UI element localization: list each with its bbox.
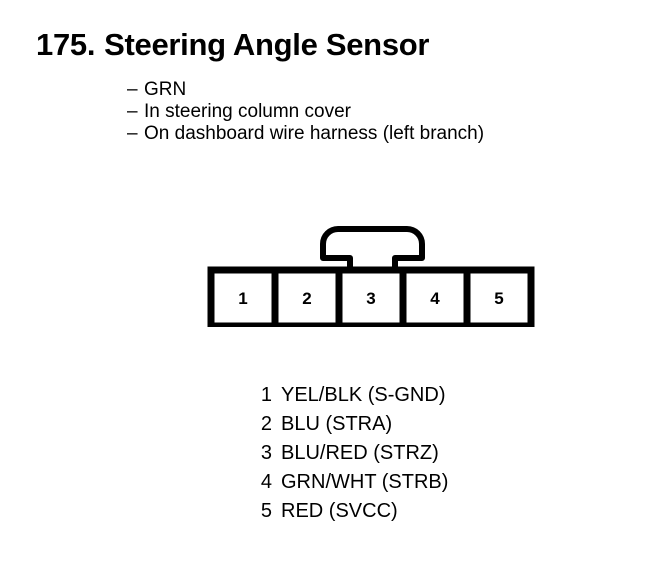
pin-legend-number: 3 xyxy=(258,439,272,468)
connector-pin-2: 2 xyxy=(302,289,311,308)
pin-legend-number: 4 xyxy=(258,468,272,497)
pin-legend-number: 5 xyxy=(258,497,272,526)
connector-pin-4: 4 xyxy=(430,289,440,308)
notes-list: – GRN – In steering column cover – On da… xyxy=(127,79,647,145)
pin-legend-row: 1 YEL/BLK (S-GND) xyxy=(258,381,448,410)
note-item-label: In steering column cover xyxy=(144,101,351,123)
pin-legend-label: YEL/BLK (S-GND) xyxy=(281,381,445,410)
page-title-text: Steering Angle Sensor xyxy=(104,27,429,62)
note-item: – In steering column cover xyxy=(127,101,647,123)
connector-pin-1: 1 xyxy=(238,289,247,308)
pin-legend-number: 1 xyxy=(258,381,272,410)
bullet-dash-icon: – xyxy=(127,79,144,101)
bullet-dash-icon: – xyxy=(127,101,144,123)
pin-legend-label: RED (SVCC) xyxy=(281,497,398,526)
pin-legend-row: 3 BLU/RED (STRZ) xyxy=(258,439,448,468)
pin-legend-row: 4 GRN/WHT (STRB) xyxy=(258,468,448,497)
note-item-label: GRN xyxy=(144,79,186,101)
pin-legend-label: BLU (STRA) xyxy=(281,410,392,439)
page-title-number: 175. xyxy=(36,27,95,62)
note-item: – GRN xyxy=(127,79,647,101)
connector-diagram: 1 2 3 4 5 xyxy=(205,222,540,327)
pin-legend-row: 2 BLU (STRA) xyxy=(258,410,448,439)
pin-legend-row: 5 RED (SVCC) xyxy=(258,497,448,526)
note-item: – On dashboard wire harness (left branch… xyxy=(127,123,647,145)
page-title: 175.Steering Angle Sensor xyxy=(36,27,429,63)
connector-pin-5: 5 xyxy=(494,289,503,308)
sensor-diagram-page: { "title": { "number": "175.", "name": "… xyxy=(0,0,672,586)
pin-legend-label: GRN/WHT (STRB) xyxy=(281,468,448,497)
note-item-label: On dashboard wire harness (left branch) xyxy=(144,123,484,145)
bullet-dash-icon: – xyxy=(127,123,144,145)
pin-legend-number: 2 xyxy=(258,410,272,439)
pin-legend-list: 1 YEL/BLK (S-GND) 2 BLU (STRA) 3 BLU/RED… xyxy=(258,381,448,526)
connector-lock-tab-icon xyxy=(323,229,422,272)
connector-pin-3: 3 xyxy=(366,289,375,308)
pin-legend-label: BLU/RED (STRZ) xyxy=(281,439,439,468)
